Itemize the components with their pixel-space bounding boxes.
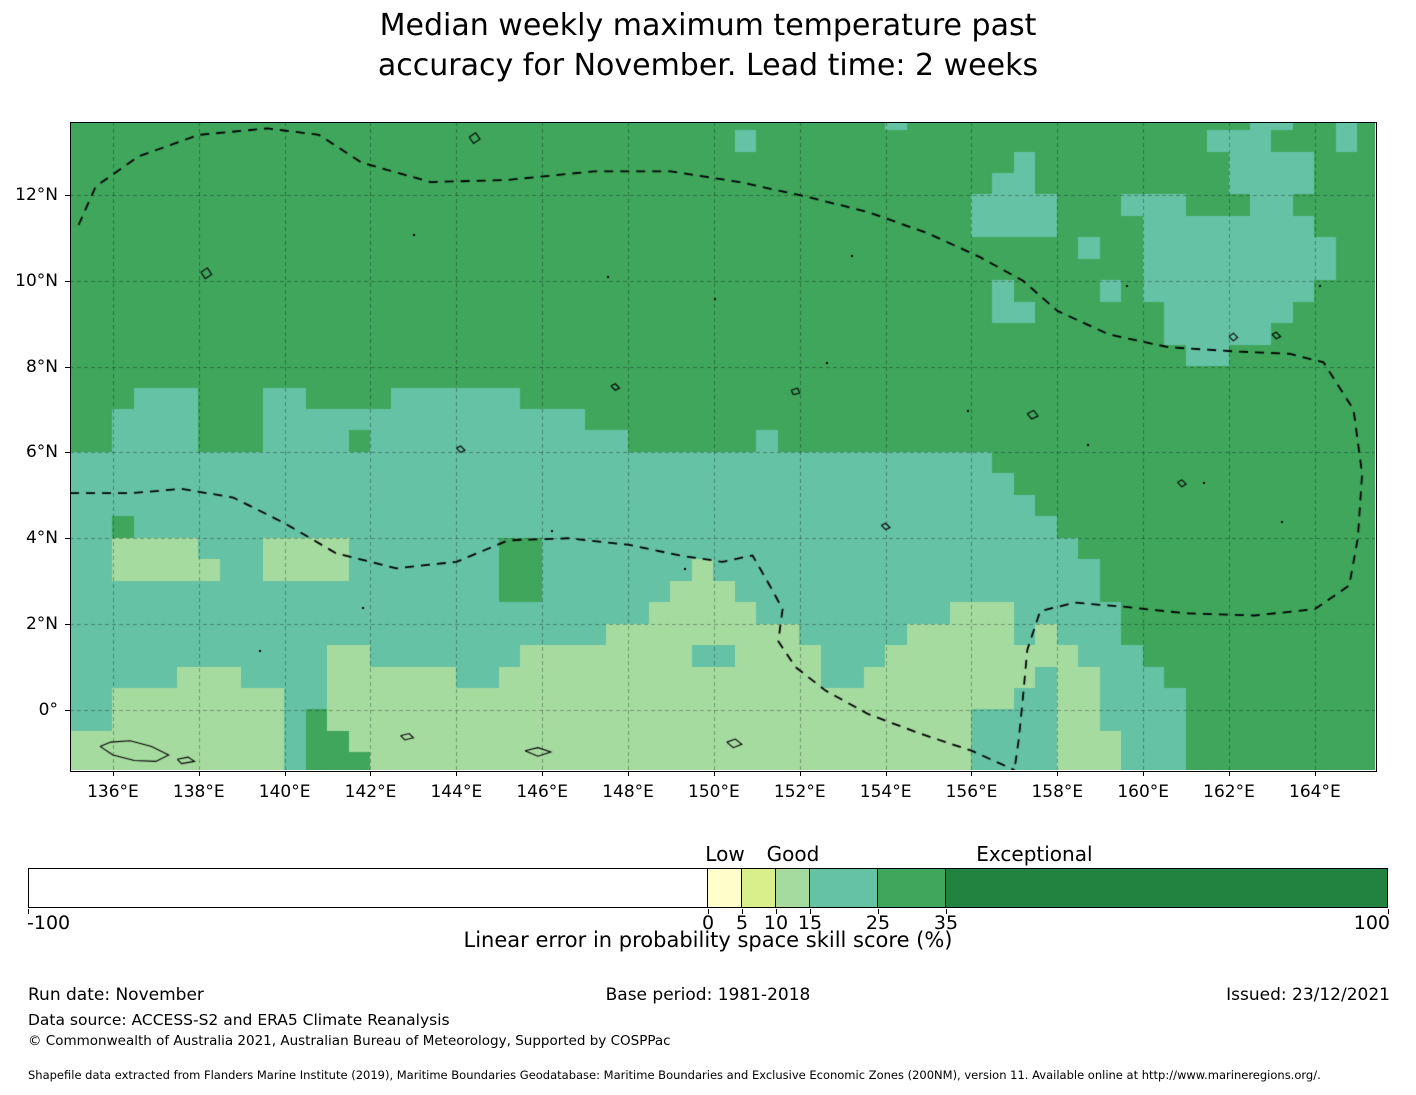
x-tick-label: 154°E (860, 782, 912, 802)
colorbar-segment[interactable] (708, 869, 742, 907)
colorbar[interactable] (28, 868, 1388, 908)
colorbar-segments[interactable] (28, 868, 1388, 908)
x-tick-label: 140°E (259, 782, 311, 802)
colorbar-segment[interactable] (742, 869, 776, 907)
y-tick-label: 4°N (0, 528, 58, 548)
y-tick-mark (65, 281, 70, 282)
x-tick-label: 136°E (87, 782, 139, 802)
title-line-2: accuracy for November. Lead time: 2 week… (0, 46, 1416, 86)
y-tick-label: 12°N (0, 185, 58, 205)
x-tick-mark (1057, 771, 1058, 776)
colorbar-category-label: Good (767, 842, 820, 866)
copyright-text: © Commonwealth of Australia 2021, Austra… (28, 1033, 671, 1049)
page-title: Median weekly maximum temperature past a… (0, 6, 1416, 86)
x-tick-mark (199, 771, 200, 776)
colorbar-segment[interactable] (29, 869, 708, 907)
colorbar-segment[interactable] (878, 869, 946, 907)
x-tick-label: 150°E (688, 782, 740, 802)
y-tick-mark (65, 195, 70, 196)
x-tick-mark (628, 771, 629, 776)
colorbar-segment[interactable] (946, 869, 1387, 907)
y-tick-mark (65, 538, 70, 539)
x-tick-label: 158°E (1031, 782, 1083, 802)
x-tick-mark (714, 771, 715, 776)
base-period-text: Base period: 1981-2018 (0, 985, 1416, 1005)
x-tick-label: 152°E (774, 782, 826, 802)
y-tick-label: 6°N (0, 442, 58, 462)
title-line-1: Median weekly maximum temperature past (0, 6, 1416, 46)
x-tick-label: 148°E (602, 782, 654, 802)
x-tick-mark (1315, 771, 1316, 776)
x-tick-mark (1229, 771, 1230, 776)
x-tick-mark (800, 771, 801, 776)
x-tick-mark (886, 771, 887, 776)
y-tick-mark (65, 710, 70, 711)
x-tick-label: 138°E (173, 782, 225, 802)
x-tick-mark (1143, 771, 1144, 776)
y-tick-label: 2°N (0, 614, 58, 634)
x-tick-mark (370, 771, 371, 776)
colorbar-category-label: Exceptional (976, 842, 1092, 866)
y-tick-mark (65, 624, 70, 625)
y-tick-label: 8°N (0, 357, 58, 377)
y-tick-label: 0° (0, 700, 58, 720)
y-tick-label: 10°N (0, 271, 58, 291)
x-tick-label: 164°E (1289, 782, 1341, 802)
colorbar-segment[interactable] (776, 869, 810, 907)
heatmap-canvas[interactable] (70, 122, 1375, 770)
colorbar-segment[interactable] (810, 869, 878, 907)
x-tick-label: 142°E (345, 782, 397, 802)
x-tick-mark (113, 771, 114, 776)
colorbar-category-label: Low (705, 842, 744, 866)
x-tick-mark (542, 771, 543, 776)
issued-date-text: Issued: 23/12/2021 (1226, 985, 1390, 1005)
y-tick-mark (65, 452, 70, 453)
data-source-text: Data source: ACCESS-S2 and ERA5 Climate … (28, 1011, 450, 1029)
x-tick-label: 160°E (1117, 782, 1169, 802)
x-tick-mark (456, 771, 457, 776)
x-tick-label: 156°E (946, 782, 998, 802)
y-tick-mark (65, 367, 70, 368)
shapefile-attribution-text: Shapefile data extracted from Flanders M… (28, 1068, 1321, 1082)
x-tick-mark (285, 771, 286, 776)
x-tick-label: 144°E (430, 782, 482, 802)
x-tick-label: 146°E (516, 782, 568, 802)
map-plot-area[interactable] (70, 122, 1375, 770)
x-tick-mark (971, 771, 972, 776)
x-tick-label: 162°E (1203, 782, 1255, 802)
colorbar-axis-title: Linear error in probability space skill … (0, 928, 1416, 952)
